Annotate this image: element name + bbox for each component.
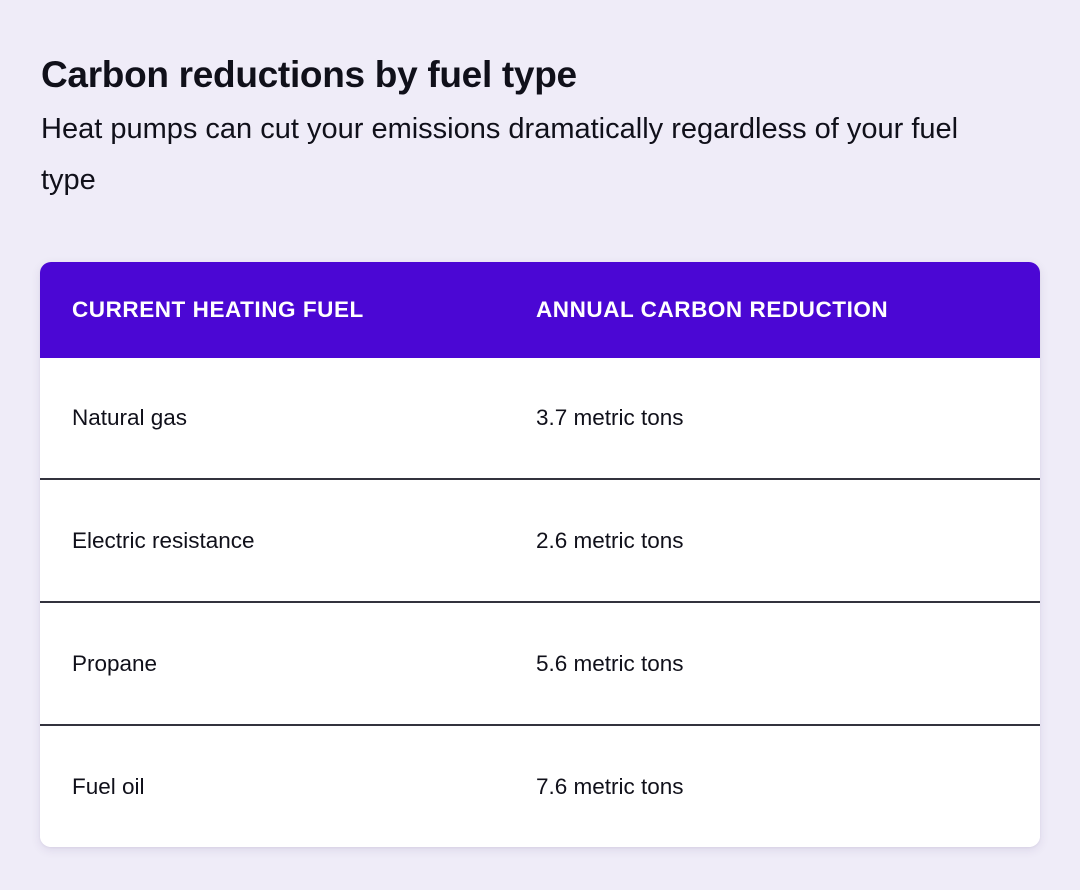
cell-fuel-type: Propane: [40, 651, 536, 677]
cell-fuel-type: Electric resistance: [40, 528, 536, 554]
table-header-row: CURRENT HEATING FUEL ANNUAL CARBON REDUC…: [40, 262, 1040, 358]
page-subtitle: Heat pumps can cut your emissions dramat…: [41, 104, 1016, 206]
carbon-reductions-panel: Carbon reductions by fuel type Heat pump…: [0, 0, 1080, 890]
column-header-current-heating-fuel: CURRENT HEATING FUEL: [40, 297, 536, 323]
table-row: Propane 5.6 metric tons: [40, 601, 1040, 724]
cell-carbon-reduction: 5.6 metric tons: [536, 651, 1040, 677]
table-row: Electric resistance 2.6 metric tons: [40, 478, 1040, 601]
heading-block: Carbon reductions by fuel type Heat pump…: [41, 52, 1031, 206]
cell-fuel-type: Fuel oil: [40, 774, 536, 800]
cell-carbon-reduction: 2.6 metric tons: [536, 528, 1040, 554]
page-title: Carbon reductions by fuel type: [41, 52, 1031, 98]
table-row: Fuel oil 7.6 metric tons: [40, 724, 1040, 847]
cell-carbon-reduction: 7.6 metric tons: [536, 774, 1040, 800]
table-row: Natural gas 3.7 metric tons: [40, 358, 1040, 478]
carbon-reduction-table: CURRENT HEATING FUEL ANNUAL CARBON REDUC…: [40, 262, 1040, 847]
column-header-annual-carbon-reduction: ANNUAL CARBON REDUCTION: [536, 297, 1040, 323]
cell-fuel-type: Natural gas: [40, 405, 536, 431]
cell-carbon-reduction: 3.7 metric tons: [536, 405, 1040, 431]
